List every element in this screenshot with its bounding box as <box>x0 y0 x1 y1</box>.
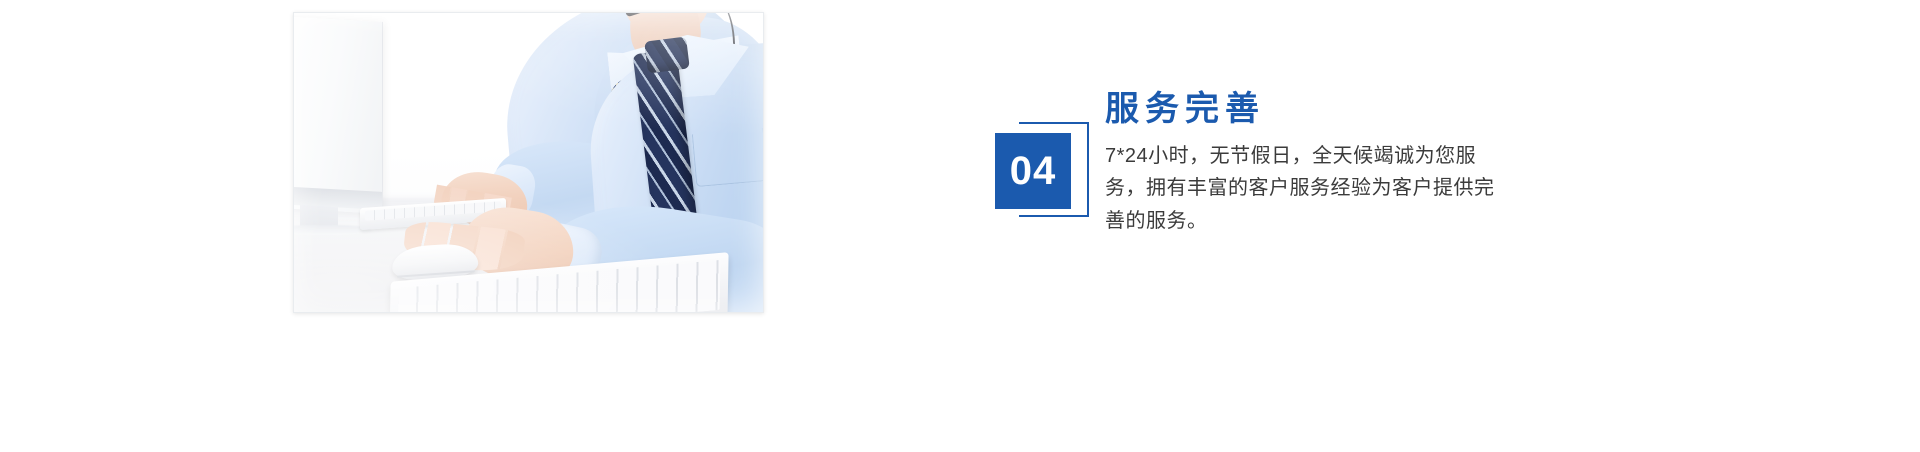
feature-number-badge: 04 <box>995 122 1091 218</box>
agent-front-shirt-pocket <box>692 128 763 187</box>
badge-outline-bottom-edge <box>1019 215 1055 217</box>
desktop-monitor-icon <box>294 16 383 214</box>
agent-front-necktie-knot <box>644 37 690 74</box>
feature-photo <box>294 13 763 312</box>
badge-filled-square: 04 <box>995 133 1071 209</box>
badge-number-text: 04 <box>995 133 1071 209</box>
badge-outline-top-edge <box>1019 122 1055 124</box>
feature-content: 04 服务完善 7*24小时，无节假日，全天候竭诚为您服务，拥有丰富的客户服务经… <box>995 90 1555 290</box>
feature-description: 7*24小时，无节假日，全天候竭诚为您服务，拥有丰富的客户服务经验为客户提供完善… <box>1105 140 1505 237</box>
feature-title: 服务完善 <box>1105 90 1535 128</box>
feature-photo-frame <box>293 12 764 313</box>
page-root: 04 服务完善 7*24小时，无节假日，全天候竭诚为您服务，拥有丰富的客户服务经… <box>0 0 1920 452</box>
feature-text-block: 服务完善 7*24小时，无节假日，全天候竭诚为您服务，拥有丰富的客户服务经验为客… <box>1105 90 1535 237</box>
